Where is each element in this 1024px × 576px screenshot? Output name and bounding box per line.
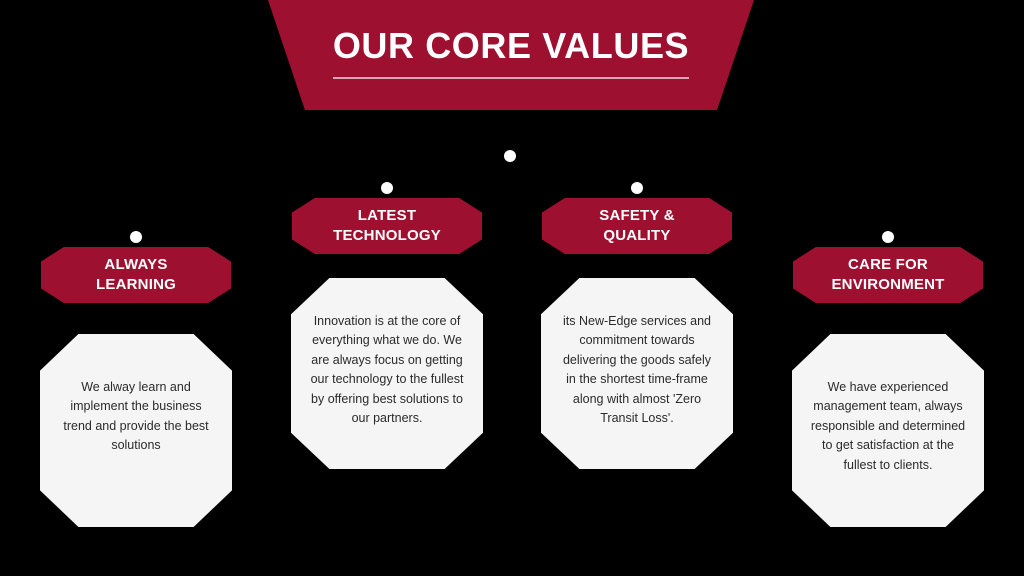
value-card-header[interactable]: ALWAYS LEARNING bbox=[41, 247, 231, 303]
value-card-body: We alway learn and implement the busines… bbox=[40, 334, 232, 527]
title-underline-divider bbox=[333, 77, 689, 79]
header-banner: OUR CORE VALUES bbox=[268, 0, 754, 110]
node-dot-icon bbox=[381, 182, 393, 194]
value-card-description: its New-Edge services and commitment tow… bbox=[541, 312, 733, 428]
value-card-title: SAFETY & QUALITY bbox=[589, 206, 685, 247]
slide-canvas: OUR CORE VALUES ALWAYS LEARNING We alway… bbox=[0, 0, 1024, 576]
page-title: OUR CORE VALUES bbox=[333, 26, 689, 66]
node-dot-icon bbox=[631, 182, 643, 194]
value-card-header[interactable]: CARE FOR ENVIRONMENT bbox=[793, 247, 983, 303]
center-connector-dot bbox=[504, 150, 516, 162]
value-card-description: We have experienced management team, alw… bbox=[792, 378, 984, 475]
value-card-description: Innovation is at the core of everything … bbox=[291, 312, 483, 428]
value-card-safety-quality[interactable]: SAFETY & QUALITY its New-Edge services a… bbox=[537, 182, 737, 469]
value-card-title: LATEST TECHNOLOGY bbox=[323, 206, 451, 247]
value-card-body: Innovation is at the core of everything … bbox=[291, 278, 483, 469]
node-dot-icon bbox=[882, 231, 894, 243]
value-card-description: We alway learn and implement the busines… bbox=[40, 378, 232, 456]
value-card-care-for-environment[interactable]: CARE FOR ENVIRONMENT We have experienced… bbox=[788, 231, 988, 527]
value-card-header[interactable]: LATEST TECHNOLOGY bbox=[292, 198, 482, 254]
value-card-latest-technology[interactable]: LATEST TECHNOLOGY Innovation is at the c… bbox=[287, 182, 487, 469]
value-card-body: its New-Edge services and commitment tow… bbox=[541, 278, 733, 469]
node-dot-icon bbox=[130, 231, 142, 243]
value-card-title: ALWAYS LEARNING bbox=[86, 255, 186, 296]
value-card-body: We have experienced management team, alw… bbox=[792, 334, 984, 527]
value-card-always-learning[interactable]: ALWAYS LEARNING We alway learn and imple… bbox=[36, 231, 236, 527]
value-card-header[interactable]: SAFETY & QUALITY bbox=[542, 198, 732, 254]
value-card-title: CARE FOR ENVIRONMENT bbox=[821, 255, 954, 296]
